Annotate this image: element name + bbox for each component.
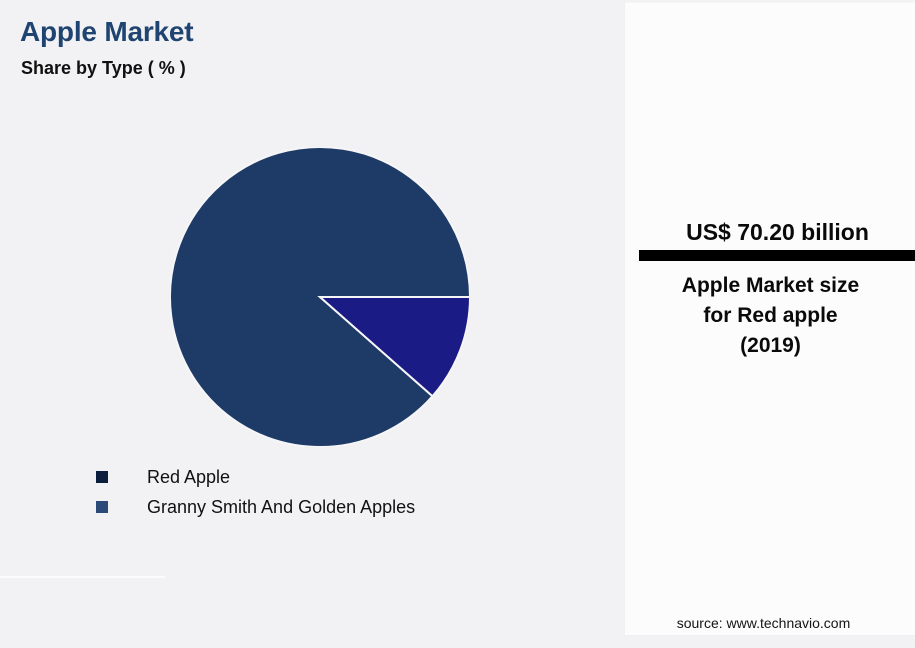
chart-subtitle: Share by Type ( % ): [21, 58, 186, 79]
chart-page: Apple Market Share by Type ( % ) Red App…: [0, 0, 915, 648]
legend-item-label: Granny Smith And Golden Apples: [147, 497, 415, 518]
kpi-caption-line-1: Apple Market size: [635, 271, 906, 301]
chart-legend: Red Apple Granny Smith And Golden Apples: [96, 462, 576, 522]
legend-item-red-apple[interactable]: Red Apple: [96, 462, 576, 492]
legend-item-label: Red Apple: [147, 467, 230, 488]
page-title: Apple Market: [20, 16, 193, 48]
pie-chart: [170, 147, 470, 447]
source-label: source: www.technavio.com: [625, 615, 902, 631]
kpi-caption-line-2: for Red apple: [635, 301, 906, 331]
kpi-caption: Apple Market size for Red apple (2019): [635, 271, 906, 361]
pie-chart-svg: [170, 147, 470, 447]
legend-swatch-icon: [96, 501, 108, 513]
kpi-caption-line-3: (2019): [635, 331, 906, 361]
kpi-value: US$ 70.20 billion: [639, 219, 915, 246]
legend-item-granny-smith-and-golden-apples[interactable]: Granny Smith And Golden Apples: [96, 492, 576, 522]
legend-swatch-icon: [96, 471, 108, 483]
kpi-underline: [639, 250, 915, 261]
divider: [0, 576, 165, 578]
kpi-panel: US$ 70.20 billion Apple Market size for …: [624, 2, 915, 636]
chart-panel: Apple Market Share by Type ( % ) Red App…: [0, 0, 624, 648]
